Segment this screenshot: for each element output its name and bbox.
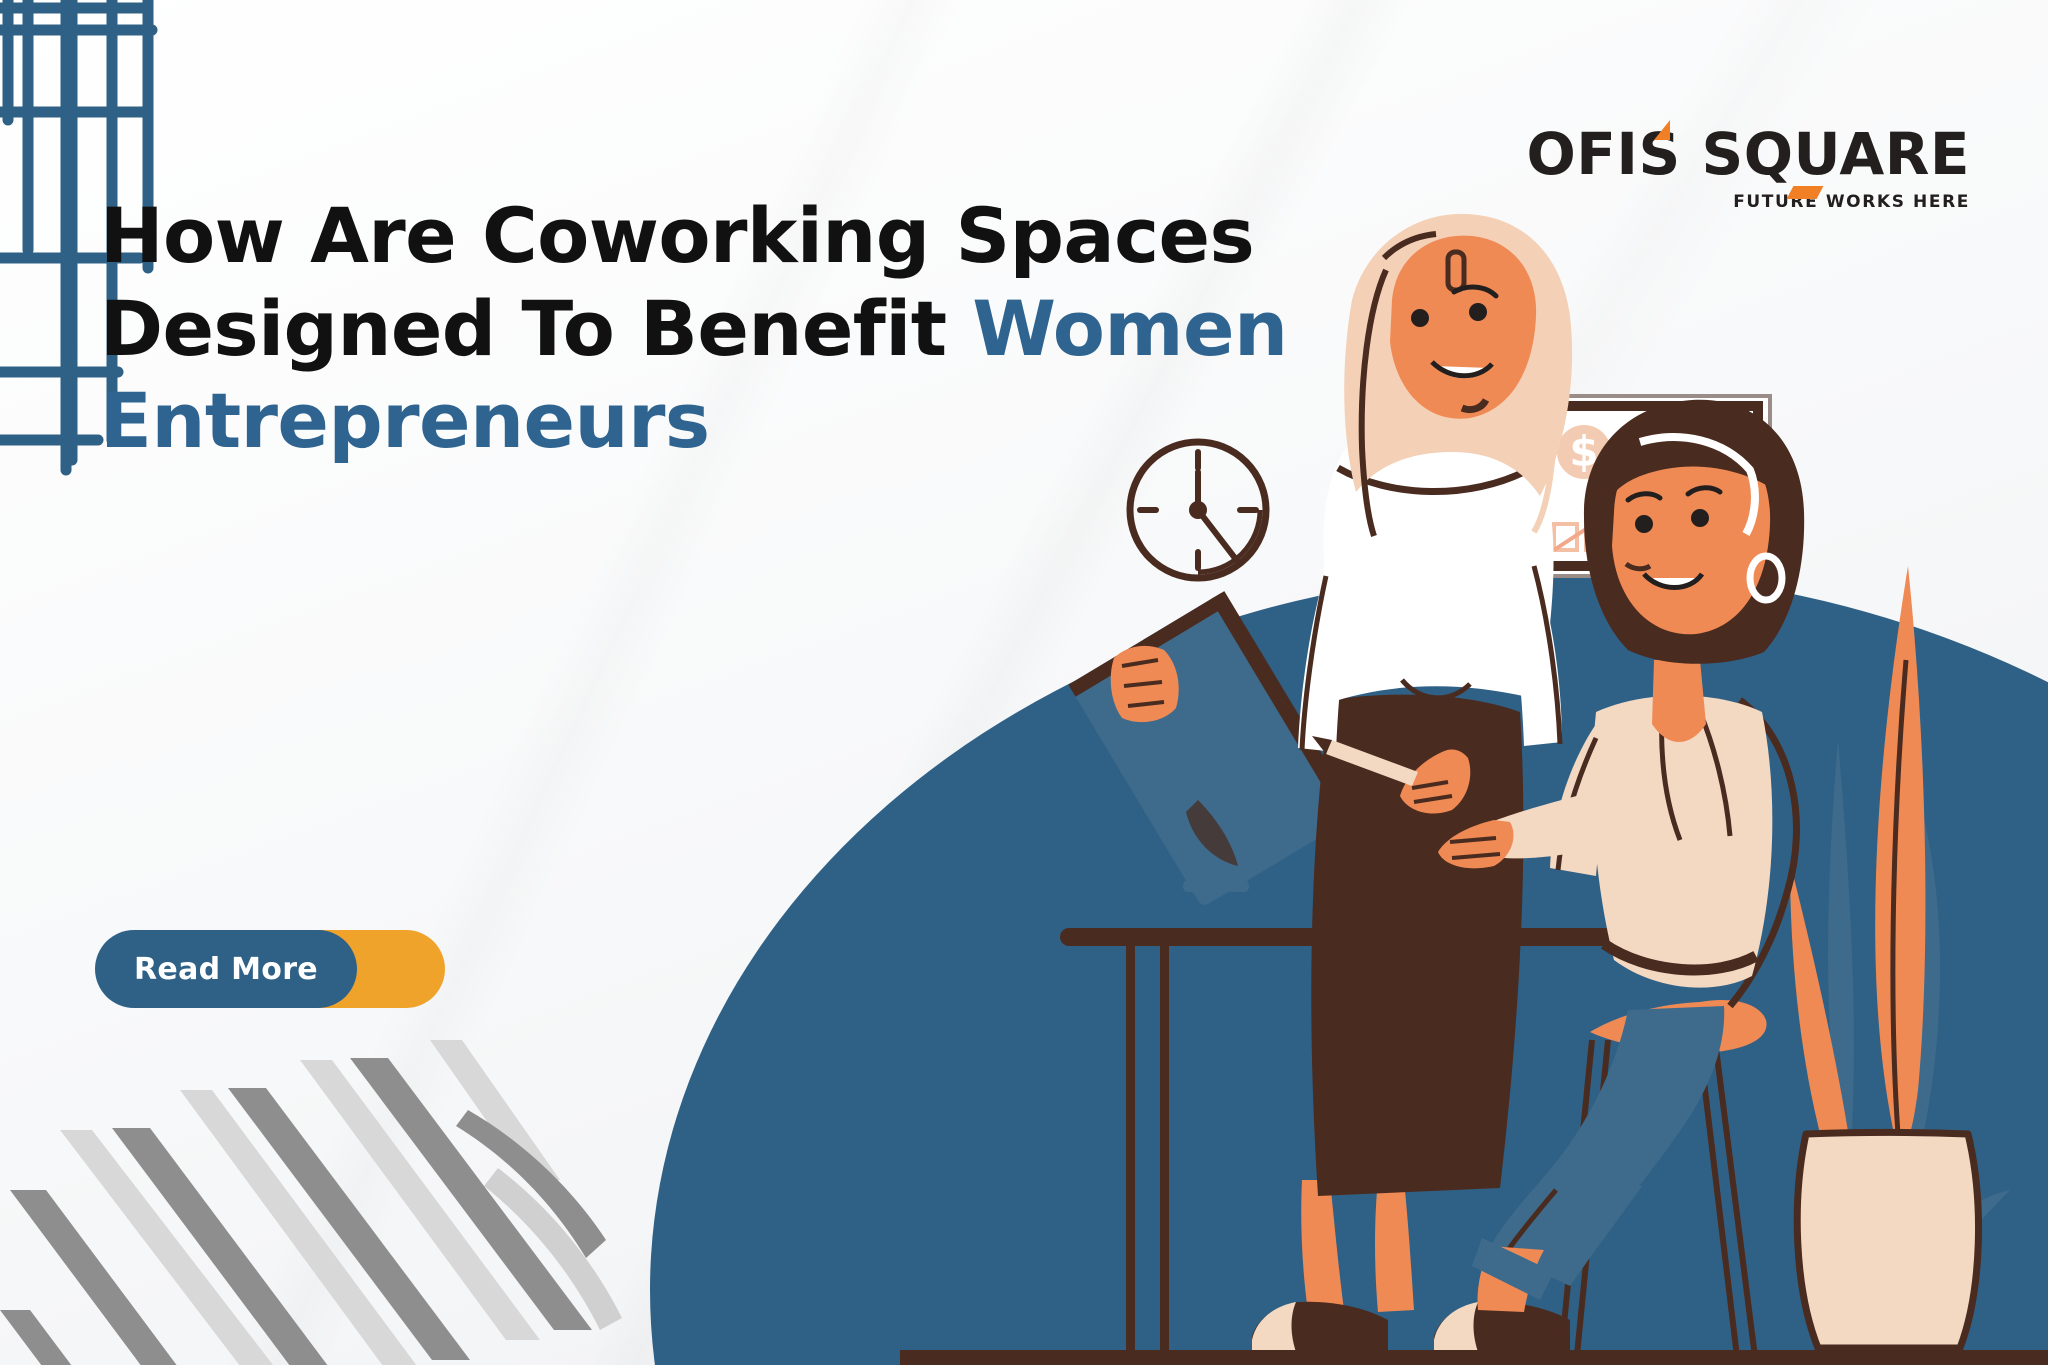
headline-accent-women: Women [972,284,1287,373]
headline-line-3: Entrepreneurs [100,375,1280,468]
promo-banner: $ [0,0,2048,1365]
hand-holding-monitor [1111,646,1179,722]
headline-line-1: How Are Coworking Spaces [100,190,1280,283]
logo-accent-triangle-icon [1654,120,1670,140]
read-more-button-group[interactable]: Read More [95,930,445,1008]
brand-logo[interactable]: OFIS SQUARE FUTURE WORKS HERE [1526,125,1970,212]
logo-wordmark: OFIS SQUARE [1526,125,1970,183]
diagonal-stripes-icon [0,1040,622,1365]
headline-line-2: Designed To Benefit Women [100,283,1280,376]
headline-line-2-plain: Designed To Benefit [100,284,972,373]
read-more-button[interactable]: Read More [95,930,357,1008]
page-title: How Are Coworking Spaces Designed To Ben… [100,190,1280,468]
logo-text: OFIS SQUARE [1526,120,1970,188]
logo-tagline: FUTURE WORKS HERE [1526,192,1970,212]
floor-line [900,1350,2048,1365]
